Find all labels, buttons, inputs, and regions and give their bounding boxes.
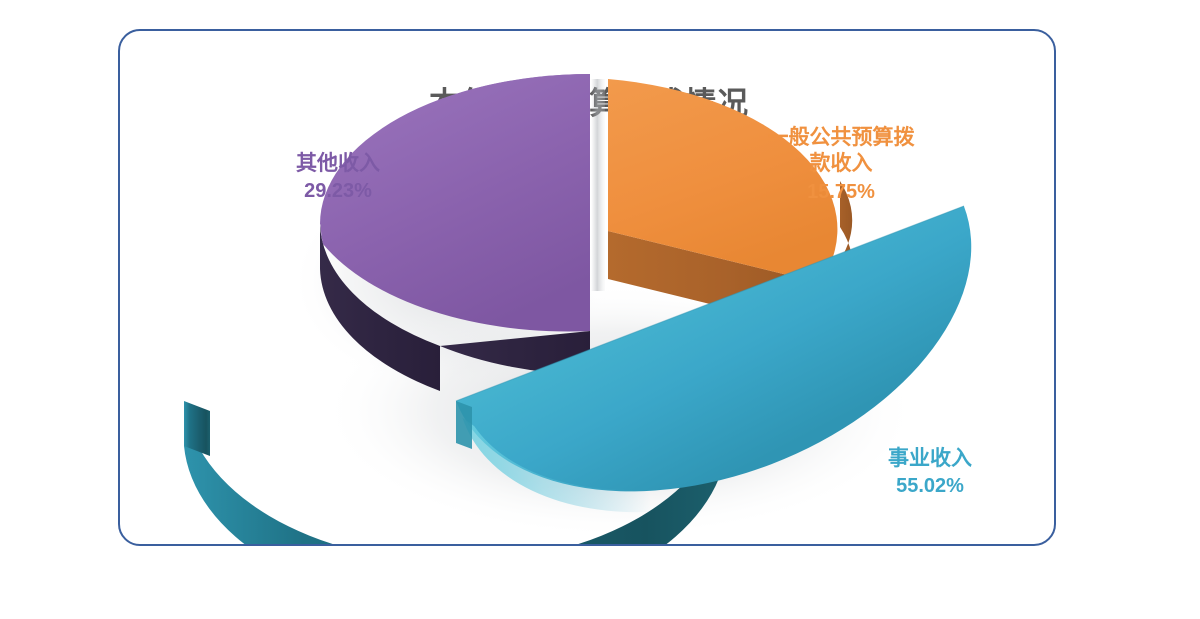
pie-label-purple-line1: 其他收入 [238,151,438,177]
pie-label-teal-percent: 55.02% [830,474,1030,499]
pie-label-purple-percent: 29.23% [238,179,438,204]
chart-panel: 本年收入预算构成情况 [118,29,1056,546]
pie-gap-shadow [591,79,605,291]
pie-label-orange: 一般公共预算拨 款收入 15.75% [741,125,941,205]
pie-label-teal: 事业收入 55.02% [830,446,1030,499]
pie-label-orange-line1: 一般公共预算拨 [741,125,941,151]
pie-label-orange-line2: 款收入 [741,151,941,177]
pie-label-purple: 其他收入 29.23% [238,151,438,204]
pie-label-orange-percent: 15.75% [741,180,941,205]
screenshot-root: 本年收入预算构成情况 [0,0,1200,619]
pie-slice-teal-left-edge [456,401,472,449]
pie-label-teal-line1: 事业收入 [830,446,1030,472]
